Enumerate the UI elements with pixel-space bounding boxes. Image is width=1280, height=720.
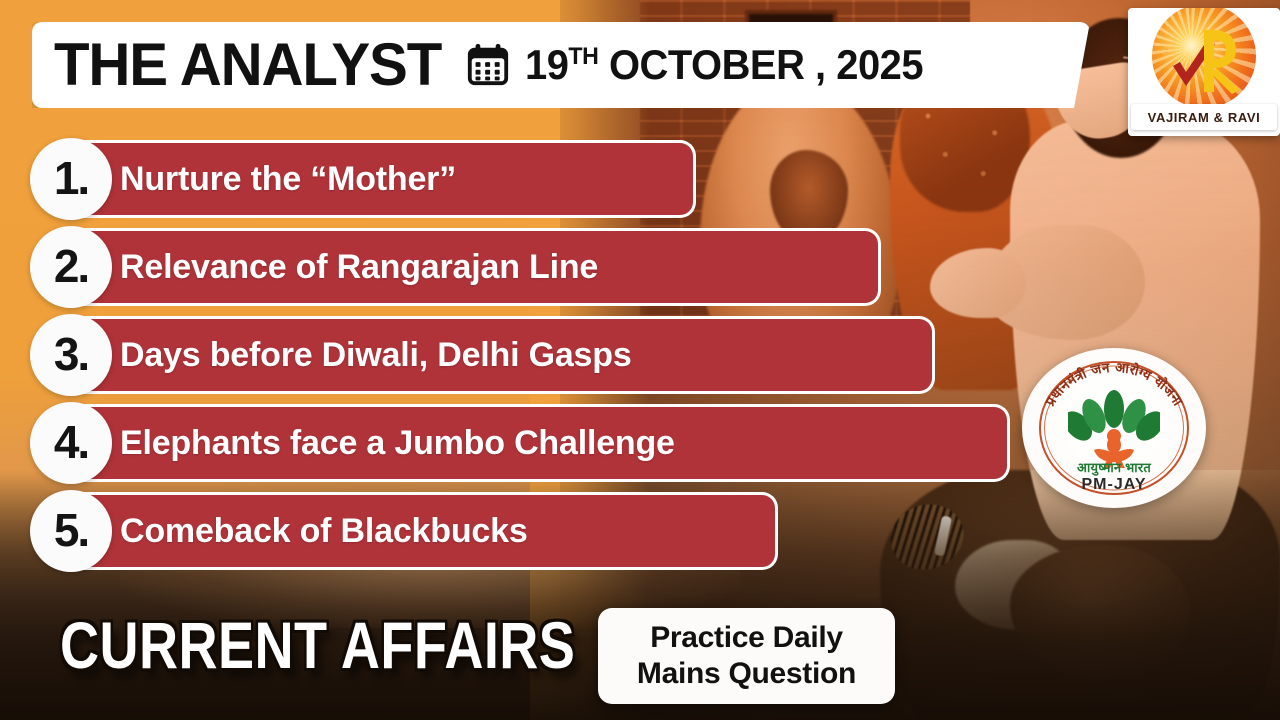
topic-label-3: Days before Diwali, Delhi Gasps (120, 338, 632, 372)
topic-bar-3[interactable]: Days before Diwali, Delhi Gasps (64, 316, 935, 394)
topic-number-badge-2: 2. (30, 226, 112, 308)
topic-label-1: Nurture the “Mother” (120, 162, 456, 196)
topic-number-3: 3. (54, 331, 88, 377)
emblem-hindi-text: आयुष्मान भारत (1022, 458, 1206, 476)
emblem-english-text: PM-JAY (1022, 476, 1206, 494)
section-title: CURRENT AFFAIRS (60, 612, 575, 678)
practice-daily-mains-badge[interactable]: Practice Daily Mains Question (598, 608, 895, 704)
topic-number-badge-5: 5. (30, 490, 112, 572)
topic-number-2: 2. (54, 243, 88, 289)
topic-bar-1[interactable]: Nurture the “Mother” (64, 140, 696, 218)
thumbnail-canvas: THE ANALYST (0, 0, 1280, 720)
topic-bar-2[interactable]: Relevance of Rangarajan Line (64, 228, 881, 306)
topic-number-4: 4. (54, 419, 88, 465)
topic-label-5: Comeback of Blackbucks (120, 514, 528, 548)
topic-number-badge-4: 4. (30, 402, 112, 484)
topic-number-badge-1: 1. (30, 138, 112, 220)
pm-jay-ayushman-bharat-emblem: प्रधानमंत्री जन आरोग्य योजना आयुष्मान भा… (1022, 348, 1206, 508)
topic-label-2: Relevance of Rangarajan Line (120, 250, 598, 284)
topic-bar-4[interactable]: Elephants face a Jumbo Challenge (64, 404, 1010, 482)
topic-number-5: 5. (54, 507, 88, 553)
topic-bar-5[interactable]: Comeback of Blackbucks (64, 492, 778, 570)
topic-label-4: Elephants face a Jumbo Challenge (120, 426, 675, 460)
topic-number-1: 1. (54, 155, 88, 201)
topic-number-badge-3: 3. (30, 314, 112, 396)
badge-line-2: Mains Question (637, 657, 856, 691)
badge-line-1: Practice Daily (650, 621, 843, 655)
